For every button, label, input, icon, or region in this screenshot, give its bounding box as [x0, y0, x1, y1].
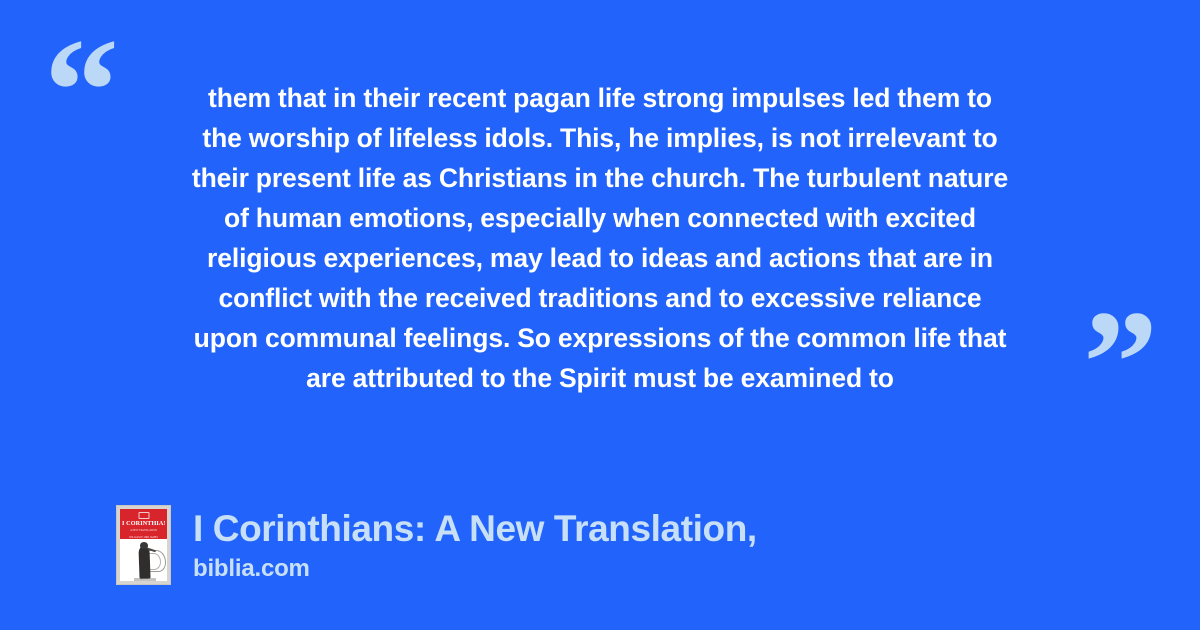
- quote-line: religious experiences, may lead to ideas…: [207, 243, 993, 273]
- quote-line: their present life as Christians in the …: [192, 163, 1008, 193]
- quote-card: “ them that in their recent pagan life s…: [0, 0, 1200, 630]
- figure-body-icon: [138, 546, 150, 580]
- attribution-footer: I CORINTHIANS A NEW TRANSLATION WILLIAM …: [116, 505, 757, 585]
- quote-line: them that in their recent pagan life str…: [208, 83, 992, 113]
- attribution-text: I Corinthians: A New Translation, biblia…: [193, 505, 757, 583]
- quote-line: are attributed to the Spirit must be exa…: [306, 363, 894, 393]
- site-name[interactable]: biblia.com: [193, 555, 757, 583]
- book-cover-band: I CORINTHIANS A NEW TRANSLATION WILLIAM …: [120, 509, 167, 539]
- quote-line: of human emotions, especially when conne…: [224, 203, 976, 233]
- book-cover-ornament-icon: [138, 512, 149, 519]
- book-cover-thumbnail: I CORINTHIANS A NEW TRANSLATION WILLIAM …: [116, 505, 171, 585]
- book-cover-illustration: [120, 539, 167, 581]
- opening-quote-icon: “: [44, 16, 119, 166]
- quote-line: conflict with the received traditions an…: [218, 283, 981, 313]
- quote-line: the worship of lifeless idols. This, he …: [202, 123, 997, 153]
- book-title[interactable]: I Corinthians: A New Translation,: [193, 507, 757, 551]
- closing-quote-icon: ”: [1083, 288, 1158, 438]
- book-cover-inner: I CORINTHIANS A NEW TRANSLATION WILLIAM …: [120, 509, 167, 581]
- quote-text: them that in their recent pagan life str…: [110, 78, 1090, 398]
- figure-shadow-icon: [134, 578, 156, 581]
- quote-line: upon communal feelings. So expressions o…: [194, 323, 1007, 353]
- quote-area: “ them that in their recent pagan life s…: [0, 0, 1200, 440]
- book-cover-subtitle: A NEW TRANSLATION: [124, 529, 163, 532]
- book-cover-title: I CORINTHIANS: [122, 520, 165, 527]
